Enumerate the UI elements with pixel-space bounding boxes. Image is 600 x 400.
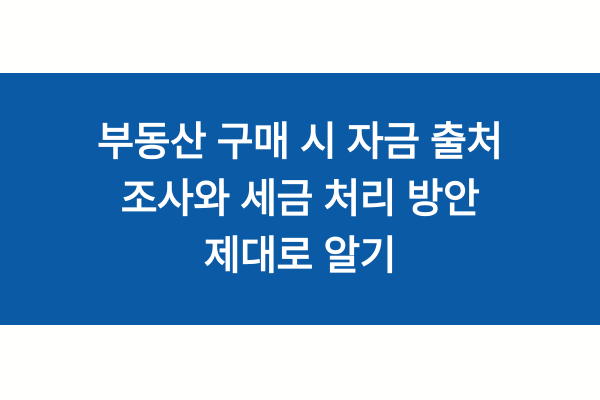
page-canvas: 부동산 구매 시 자금 출처 조사와 세금 처리 방안 제대로 알기: [0, 0, 600, 400]
bottom-whitespace: [0, 325, 600, 400]
title-banner: 부동산 구매 시 자금 출처 조사와 세금 처리 방안 제대로 알기: [0, 73, 600, 325]
banner-title-line-3: 제대로 알기: [97, 228, 502, 285]
banner-title-line-1: 부동산 구매 시 자금 출처: [97, 114, 502, 171]
banner-title-line-2: 조사와 세금 처리 방안: [97, 171, 502, 228]
top-whitespace: [0, 0, 600, 73]
banner-title: 부동산 구매 시 자금 출처 조사와 세금 처리 방안 제대로 알기: [97, 114, 502, 285]
